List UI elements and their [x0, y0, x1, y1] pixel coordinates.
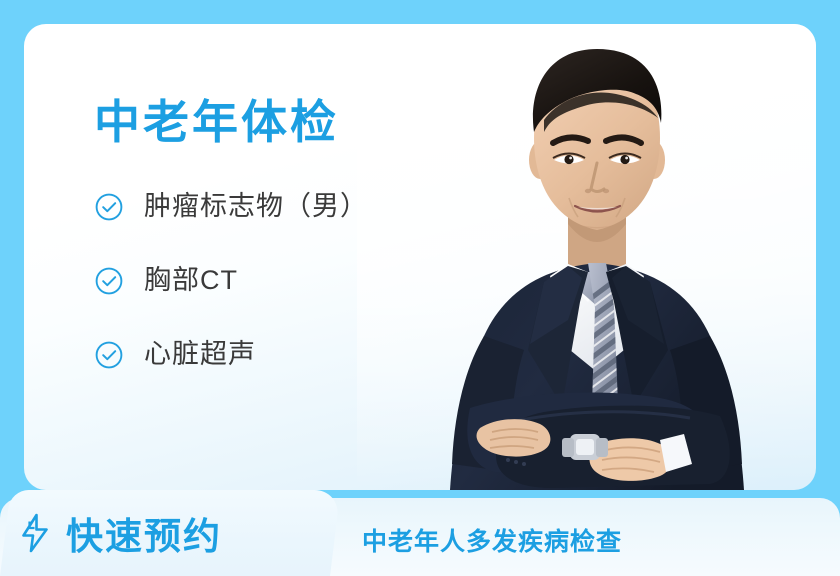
- promo-poster: 中老年体检 肿瘤标志物（男）: [0, 0, 840, 576]
- list-item: 胸部CT: [94, 253, 514, 309]
- quick-booking-content[interactable]: 快速预约: [0, 490, 330, 576]
- check-circle-icon: [94, 192, 124, 222]
- quick-booking-label: 快速预约: [66, 506, 222, 560]
- bottom-bar-subtitle: 中老年人多发疾病检查: [362, 522, 622, 558]
- list-item-label: 胸部CT: [144, 267, 238, 294]
- content-card: 中老年体检 肿瘤标志物（男）: [24, 24, 816, 490]
- feature-list: 肿瘤标志物（男） 胸部CT: [94, 179, 514, 383]
- text-column: 中老年体检 肿瘤标志物（男）: [94, 96, 514, 401]
- bottom-bar: 中老年人多发疾病检查 快速预约: [0, 490, 840, 576]
- list-item-label: 肿瘤标志物（男）: [144, 193, 368, 220]
- list-item-label: 心脏超声: [144, 341, 256, 368]
- list-item: 肿瘤标志物（男）: [94, 179, 514, 235]
- check-circle-icon: [94, 266, 124, 296]
- page-title: 中老年体检: [94, 96, 514, 149]
- list-item: 心脏超声: [94, 327, 514, 383]
- lightning-bolt-icon: [18, 513, 52, 553]
- check-circle-icon: [94, 340, 124, 370]
